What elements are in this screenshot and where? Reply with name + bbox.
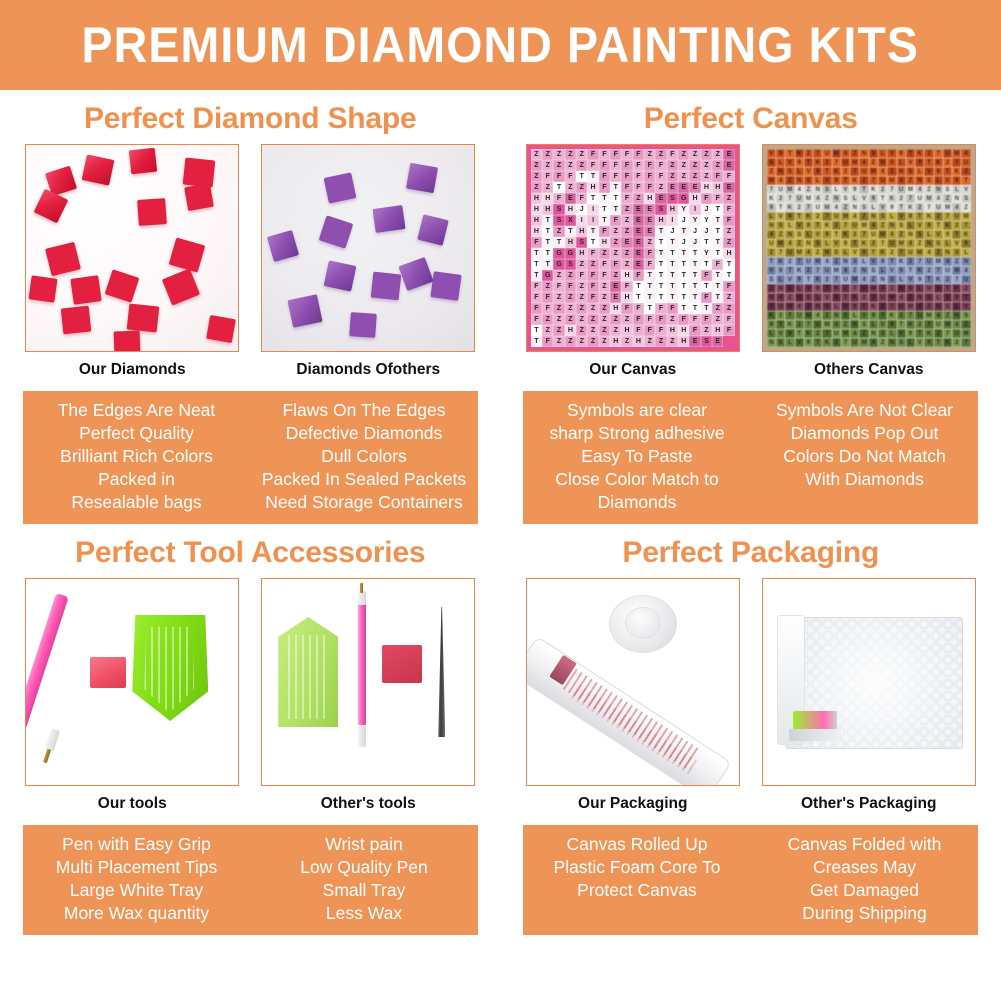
canvas-symbol-cell: 2 [832, 221, 841, 230]
canvas-symbol-cell: T [723, 259, 734, 270]
canvas-symbol-cell: S [943, 185, 952, 194]
canvas-symbol-cell: T [542, 248, 553, 259]
canvas-symbol-cell: T [599, 193, 610, 204]
canvas-symbol-cell: S [887, 158, 896, 167]
panel-other-canvas: V9TK27UM4ZNSLV9TK27UM4SLV9TK27UM4ZNSLV9T… [760, 144, 978, 379]
canvas-symbol-cell: T [587, 171, 598, 182]
caption-other-tools: Other's tools [321, 795, 416, 813]
canvas-symbol-cell: K [785, 203, 794, 212]
canvas-symbol-cell: K [859, 239, 868, 248]
canvas-symbol-cell: T [655, 292, 666, 303]
canvas-symbol-cell: H [667, 325, 678, 336]
canvas-symbol-cell: T [832, 230, 841, 239]
canvas-symbol-cell: 9 [897, 266, 906, 275]
canvas-symbol-cell: 4 [943, 257, 952, 266]
canvas-symbol-cell: M [822, 203, 831, 212]
canvas-symbol-cell: K [822, 221, 831, 230]
canvas-symbol-cell: 7 [850, 167, 859, 176]
caption-our-canvas: Our Canvas [589, 361, 676, 379]
canvas-symbol-cell: S [822, 302, 831, 311]
canvas-symbol-cell: U [850, 221, 859, 230]
canvas-symbol-cell: F [723, 325, 734, 336]
canvas-symbol-cell: T [678, 270, 689, 281]
feature-list-others-packaging: Canvas Folded with Creases May Get Damag… [751, 833, 979, 925]
canvas-symbol-cell: H [712, 325, 723, 336]
canvas-symbol-cell: K [813, 275, 822, 284]
canvas-symbol-cell: F [565, 281, 576, 292]
canvas-symbol-cell: I [689, 204, 700, 215]
canvas-symbol-cell: 2 [813, 212, 822, 221]
canvas-symbol-cell: Z [565, 303, 576, 314]
canvas-symbol-cell: V [859, 194, 868, 203]
bag-edge-shape [789, 729, 841, 741]
canvas-symbol-cell: Z [621, 314, 632, 325]
canvas-symbol-cell: T [678, 303, 689, 314]
section-canvas: Perfect Canvas ZZZZZFFFFFZZFZZZZEZZZZZFF… [501, 90, 1001, 524]
canvas-symbol-cell: N [934, 302, 943, 311]
canvas-symbol-cell: Z [795, 239, 804, 248]
canvas-symbol-cell: 7 [906, 311, 915, 320]
canvas-symbol-cell: T [813, 338, 822, 347]
canvas-symbol-cell: U [906, 248, 915, 257]
canvas-symbol-cell: F [667, 149, 678, 160]
canvas-symbol-cell: L [767, 329, 776, 338]
canvas-symbol-cell: Z [869, 275, 878, 284]
canvas-symbol-cell: F [531, 292, 542, 303]
canvas-symbol-cell: F [712, 171, 723, 182]
canvas-symbol-cell: F [633, 325, 644, 336]
canvas-symbol-cell: L [795, 284, 804, 293]
canvas-symbol-cell: 4 [813, 311, 822, 320]
canvas-symbol-cell: L [813, 176, 822, 185]
canvas-symbol-cell: 9 [887, 203, 896, 212]
canvas-symbol-cell: 2 [767, 248, 776, 257]
canvas-symbol-cell: H [576, 226, 587, 237]
canvas-symbol-cell: 7 [897, 248, 906, 257]
canvas-symbol-cell: V [897, 212, 906, 221]
canvas-symbol-cell: 4 [785, 239, 794, 248]
canvas-symbol-cell: U [832, 329, 841, 338]
feature-item: Flaws On The Edges [282, 399, 445, 422]
canvas-symbol-cell: T [906, 149, 915, 158]
canvas-symbol-cell: Z [576, 182, 587, 193]
canvas-symbol-cell: Z [565, 270, 576, 281]
canvas-symbol-cell: S [565, 259, 576, 270]
canvas-symbol-cell: M [943, 203, 952, 212]
feature-item: Creases May [813, 856, 916, 879]
canvas-symbol-cell: T [776, 320, 785, 329]
canvas-symbol-cell: Z [542, 149, 553, 160]
canvas-symbol-cell: 4 [952, 320, 961, 329]
canvas-symbol-cell: 4 [850, 212, 859, 221]
canvas-symbol-cell: F [701, 292, 712, 303]
canvas-symbol-cell: E [633, 259, 644, 270]
canvas-symbol-cell: J [678, 215, 689, 226]
canvas-symbol-cell: M [804, 194, 813, 203]
canvas-symbol-cell: Z [655, 149, 666, 160]
canvas-symbol-cell: 2 [924, 149, 933, 158]
canvas-symbol-cell: V [869, 257, 878, 266]
canvas-symbol-cell: S [878, 329, 887, 338]
canvas-symbol-cell: 9 [795, 275, 804, 284]
canvas-symbol-cell: F [531, 303, 542, 314]
panel-our-packaging: Our Packaging [524, 578, 742, 813]
canvas-symbol-cell: S [887, 275, 896, 284]
canvas-symbol-cell: Z [667, 171, 678, 182]
canvas-symbol-cell: J [678, 237, 689, 248]
canvas-symbol-cell: Z [553, 149, 564, 160]
canvas-symbol-cell: 9 [832, 176, 841, 185]
canvas-symbol-cell: U [924, 257, 933, 266]
canvas-symbol-cell: F [587, 160, 598, 171]
canvas-symbol-cell: V [961, 185, 970, 194]
canvas-symbol-cell: Z [952, 257, 961, 266]
canvas-symbol-cell: T [924, 275, 933, 284]
canvas-symbol-cell: M [924, 194, 933, 203]
feature-item: Diamonds Pop Out [791, 422, 939, 445]
canvas-symbol-cell: Z [542, 281, 553, 292]
canvas-symbol-cell: U [795, 311, 804, 320]
canvas-symbol-cell: 4 [915, 302, 924, 311]
canvas-symbol-cell: H [565, 325, 576, 336]
canvas-symbol-cell: Z [667, 336, 678, 347]
canvas-symbol-cell: 9 [952, 176, 961, 185]
canvas-symbol-cell: U [841, 158, 850, 167]
canvas-symbol-cell: Z [767, 167, 776, 176]
canvas-symbol-cell: N [832, 194, 841, 203]
canvas-symbol-cell: Z [859, 329, 868, 338]
canvas-symbol-cell: E [610, 281, 621, 292]
canvas-symbol-cell: T [822, 167, 831, 176]
canvas-symbol-cell: I [587, 215, 598, 226]
canvas-symbol-cell: E [633, 215, 644, 226]
canvas-symbol-cell: E [621, 237, 632, 248]
canvas-symbol-cell: F [565, 171, 576, 182]
canvas-symbol-cell: Z [667, 160, 678, 171]
canvas-symbol-cell: T [934, 221, 943, 230]
canvas-symbol-cell: V [804, 167, 813, 176]
canvas-symbol-cell: 7 [767, 302, 776, 311]
canvas-symbol-cell: F [633, 160, 644, 171]
canvas-symbol-cell: N [869, 212, 878, 221]
canvas-symbol-cell: M [961, 329, 970, 338]
canvas-symbol-cell: Z [961, 320, 970, 329]
canvas-symbol-cell: T [667, 259, 678, 270]
canvas-symbol-cell: Z [943, 311, 952, 320]
caption-other-diamonds: Diamonds Ofothers [296, 361, 440, 379]
canvas-symbol-cell: Z [621, 336, 632, 347]
canvas-symbol-cell: Z [723, 303, 734, 314]
canvas-symbol-cell: L [832, 185, 841, 194]
canvas-symbol-cell: T [644, 303, 655, 314]
canvas-symbol-cell: M [841, 329, 850, 338]
canvas-symbol-cell: 9 [924, 338, 933, 347]
canvas-symbol-cell: K [832, 167, 841, 176]
canvas-symbol-cell: E [667, 182, 678, 193]
canvas-symbol-cell: F [553, 171, 564, 182]
canvas-symbol-cell: Z [587, 303, 598, 314]
canvas-symbol-cell: V [813, 230, 822, 239]
canvas-symbol-cell: F [610, 171, 621, 182]
feature-item: Resealable bags [71, 491, 201, 514]
canvas-symbol-cell: 9 [832, 293, 841, 302]
panel-other-packaging: Other's Packaging [760, 578, 978, 813]
canvas-symbol-cell: 2 [952, 338, 961, 347]
canvas-symbol-cell: M [767, 293, 776, 302]
canvas-symbol-cell: T [906, 266, 915, 275]
canvas-symbol-cell: 9 [822, 230, 831, 239]
canvas-symbol-cell: F [610, 259, 621, 270]
canvas-symbol-cell: 4 [878, 167, 887, 176]
canvas-symbol-cell: K [869, 185, 878, 194]
canvas-symbol-cell: 2 [859, 293, 868, 302]
canvas-symbol-cell: M [841, 212, 850, 221]
canvas-symbol-cell: F [712, 193, 723, 204]
canvas-symbol-cell: Z [599, 303, 610, 314]
canvas-symbol-cell: V [795, 221, 804, 230]
canvas-symbol-cell: L [841, 248, 850, 257]
canvas-symbol-cell: Z [531, 160, 542, 171]
feature-item: Close Color Match to [555, 468, 718, 491]
canvas-symbol-cell: V [776, 329, 785, 338]
canvas-symbol-cell: F [610, 149, 621, 160]
canvas-symbol-cell: F [723, 171, 734, 182]
feature-item: Packed In Sealed Packets [262, 468, 466, 491]
canvas-symbol-cell: N [897, 284, 906, 293]
other-canvas-symbol-grid: V9TK27UM4ZNSLV9TK27UM4SLV9TK27UM4ZNSLV9T… [767, 149, 971, 347]
canvas-symbol-cell: V [822, 176, 831, 185]
canvas-symbol-cell: 9 [804, 221, 813, 230]
canvas-symbol-cell: T [542, 215, 553, 226]
canvas-symbol-cell: 7 [869, 176, 878, 185]
canvas-symbol-cell: 4 [878, 284, 887, 293]
canvas-symbol-cell: T [795, 212, 804, 221]
feature-block-packaging: Canvas Rolled Up Plastic Foam Core To Pr… [523, 825, 978, 935]
canvas-symbol-cell: 7 [961, 221, 970, 230]
canvas-symbol-cell: F [621, 281, 632, 292]
canvas-symbol-cell: M [813, 257, 822, 266]
canvas-symbol-cell: N [832, 311, 841, 320]
canvas-symbol-cell: F [621, 182, 632, 193]
canvas-symbol-cell: N [767, 221, 776, 230]
canvas-symbol-cell: 7 [804, 320, 813, 329]
canvas-symbol-cell: Z [915, 239, 924, 248]
canvas-symbol-cell: S [804, 176, 813, 185]
canvas-symbol-cell: F [701, 314, 712, 325]
canvas-symbol-cell: T [850, 239, 859, 248]
canvas-symbol-cell: L [906, 338, 915, 347]
canvas-symbol-cell: E [678, 182, 689, 193]
canvas-symbol-cell: 2 [934, 329, 943, 338]
canvas-symbol-cell: F [531, 237, 542, 248]
canvas-symbol-cell: 7 [934, 266, 943, 275]
feature-item: During Shipping [802, 902, 927, 925]
canvas-symbol-cell: U [915, 311, 924, 320]
panel-other-diamonds: Diamonds Ofothers [259, 144, 477, 379]
canvas-symbol-cell: F [542, 303, 553, 314]
canvas-symbol-cell: N [934, 185, 943, 194]
canvas-symbol-cell: Z [599, 325, 610, 336]
canvas-symbol-cell: U [804, 257, 813, 266]
canvas-symbol-cell: Z [655, 336, 666, 347]
canvas-symbol-cell: Z [576, 336, 587, 347]
canvas-symbol-cell: F [621, 160, 632, 171]
canvas-symbol-cell: S [553, 215, 564, 226]
canvas-symbol-cell: F [633, 182, 644, 193]
feature-item: Colors Do Not Match [783, 445, 945, 468]
canvas-symbol-cell: T [667, 292, 678, 303]
canvas-symbol-cell: H [531, 226, 542, 237]
canvas-symbol-cell: E [633, 226, 644, 237]
canvas-symbol-cell: L [943, 239, 952, 248]
canvas-symbol-cell: S [878, 212, 887, 221]
canvas-symbol-cell: L [776, 158, 785, 167]
canvas-symbol-cell: L [952, 302, 961, 311]
canvas-symbol-cell: Z [621, 215, 632, 226]
canvas-symbol-cell: T [655, 237, 666, 248]
canvas-symbol-cell: N [906, 230, 915, 239]
canvas-symbol-cell: H [610, 336, 621, 347]
canvas-symbol-cell: L [934, 176, 943, 185]
canvas-symbol-cell: T [943, 167, 952, 176]
canvas-symbol-cell: J [667, 226, 678, 237]
other-packaging-image [762, 578, 976, 786]
canvas-symbol-cell: L [785, 221, 794, 230]
canvas-symbol-cell: U [897, 185, 906, 194]
canvas-symbol-cell: Z [599, 314, 610, 325]
section-packaging: Perfect Packaging Our Packaging [501, 524, 1001, 935]
canvas-symbol-cell: U [813, 320, 822, 329]
canvas-symbol-cell: T [678, 259, 689, 270]
canvas-symbol-cell: 7 [832, 158, 841, 167]
canvas-symbol-cell: S [906, 284, 915, 293]
canvas-symbol-cell: M [832, 266, 841, 275]
canvas-symbol-cell: L [832, 302, 841, 311]
canvas-symbol-cell: M [943, 320, 952, 329]
canvas-symbol-cell: L [887, 329, 896, 338]
canvas-symbol-cell: F [655, 325, 666, 336]
canvas-symbol-cell: M [776, 239, 785, 248]
canvas-symbol-cell: T [689, 292, 700, 303]
canvas-symbol-cell: K [767, 311, 776, 320]
canvas-symbol-cell: X [565, 215, 576, 226]
canvas-symbol-cell: F [655, 314, 666, 325]
canvas-symbol-cell: T [667, 237, 678, 248]
canvas-symbol-cell: Z [610, 314, 621, 325]
canvas-symbol-cell: V [924, 167, 933, 176]
canvas-symbol-cell: H [599, 237, 610, 248]
canvas-symbol-cell: U [822, 266, 831, 275]
canvas-symbol-cell: Z [576, 160, 587, 171]
canvas-symbol-cell: 7 [887, 302, 896, 311]
canvas-symbol-cell: 7 [822, 212, 831, 221]
canvas-symbol-cell: S [767, 158, 776, 167]
feature-item: Get Damaged [810, 879, 919, 902]
feature-item: Large White Tray [70, 879, 203, 902]
canvas-symbol-cell: M [859, 221, 868, 230]
canvas-symbol-cell: V [961, 302, 970, 311]
canvas-symbol-cell: E [565, 193, 576, 204]
canvas-symbol-cell: 9 [869, 194, 878, 203]
canvas-symbol-cell: Z [553, 336, 564, 347]
canvas-symbol-cell: H [712, 182, 723, 193]
canvas-symbol-cell: S [832, 248, 841, 257]
canvas-symbol-cell: K [785, 320, 794, 329]
canvas-symbol-cell: K [795, 149, 804, 158]
caption-our-diamonds: Our Diamonds [79, 361, 186, 379]
canvas-symbol-cell: T [587, 237, 598, 248]
canvas-symbol-cell: F [644, 259, 655, 270]
canvas-symbol-cell: T [678, 292, 689, 303]
canvas-symbol-cell: 9 [915, 275, 924, 284]
canvas-symbol-cell: F [610, 160, 621, 171]
canvas-symbol-cell: E [723, 149, 734, 160]
canvas-symbol-cell: L [850, 311, 859, 320]
canvas-symbol-cell: 4 [795, 185, 804, 194]
canvas-symbol-cell: T [961, 293, 970, 302]
canvas-symbol-cell: 7 [943, 212, 952, 221]
canvas-symbol-cell: T [610, 204, 621, 215]
feature-item: Easy To Paste [581, 445, 693, 468]
canvas-symbol-cell: G [553, 248, 564, 259]
canvas-symbol-cell: G [553, 259, 564, 270]
canvas-symbol-cell: L [897, 275, 906, 284]
feature-block-diamond-shape: The Edges Are Neat Perfect Quality Brill… [23, 391, 478, 524]
canvas-symbol-cell: F [599, 182, 610, 193]
canvas-symbol-cell: T [804, 158, 813, 167]
canvas-symbol-cell: S [841, 194, 850, 203]
canvas-symbol-cell: M [887, 176, 896, 185]
canvas-symbol-cell: 9 [869, 311, 878, 320]
canvas-symbol-cell: H [621, 292, 632, 303]
canvas-symbol-cell: T [961, 176, 970, 185]
canvas-symbol-cell: N [813, 185, 822, 194]
canvas-symbol-cell: Z [712, 314, 723, 325]
canvas-symbol-cell: Z [587, 325, 598, 336]
canvas-symbol-cell: T [934, 338, 943, 347]
canvas-symbol-cell: L [776, 275, 785, 284]
canvas-symbol-cell: Z [587, 336, 598, 347]
canvas-symbol-cell: T [701, 237, 712, 248]
section-title-tool-accessories: Perfect Tool Accessories [75, 536, 425, 570]
canvas-symbol-cell: 9 [776, 266, 785, 275]
canvas-symbol-cell: T [599, 215, 610, 226]
canvas-symbol-cell: 4 [859, 275, 868, 284]
canvas-symbol-cell: H [633, 336, 644, 347]
canvas-symbol-cell: F [633, 314, 644, 325]
canvas-symbol-cell: T [841, 293, 850, 302]
canvas-symbol-cell: Z [542, 325, 553, 336]
canvas-symbol-cell: M [785, 302, 794, 311]
canvas-symbol-cell: F [587, 281, 598, 292]
canvas-symbol-cell: Y [689, 215, 700, 226]
canvas-symbol-cell: T [644, 281, 655, 292]
canvas-symbol-cell: Z [644, 149, 655, 160]
canvas-symbol-cell: Z [850, 149, 859, 158]
canvas-symbol-cell: Z [531, 182, 542, 193]
canvas-symbol-cell: 4 [832, 203, 841, 212]
canvas-symbol-cell: M [804, 311, 813, 320]
canvas-symbol-cell: S [776, 338, 785, 347]
canvas-symbol-cell: T [712, 226, 723, 237]
canvas-symbol-cell: Z [701, 149, 712, 160]
canvas-symbol-cell: 9 [785, 329, 794, 338]
canvas-symbol-cell: U [822, 149, 831, 158]
canvas-symbol-cell: T [633, 281, 644, 292]
canvas-symbol-cell: H [531, 215, 542, 226]
canvas-symbol-cell: K [906, 320, 915, 329]
canvas-symbol-cell: N [952, 194, 961, 203]
